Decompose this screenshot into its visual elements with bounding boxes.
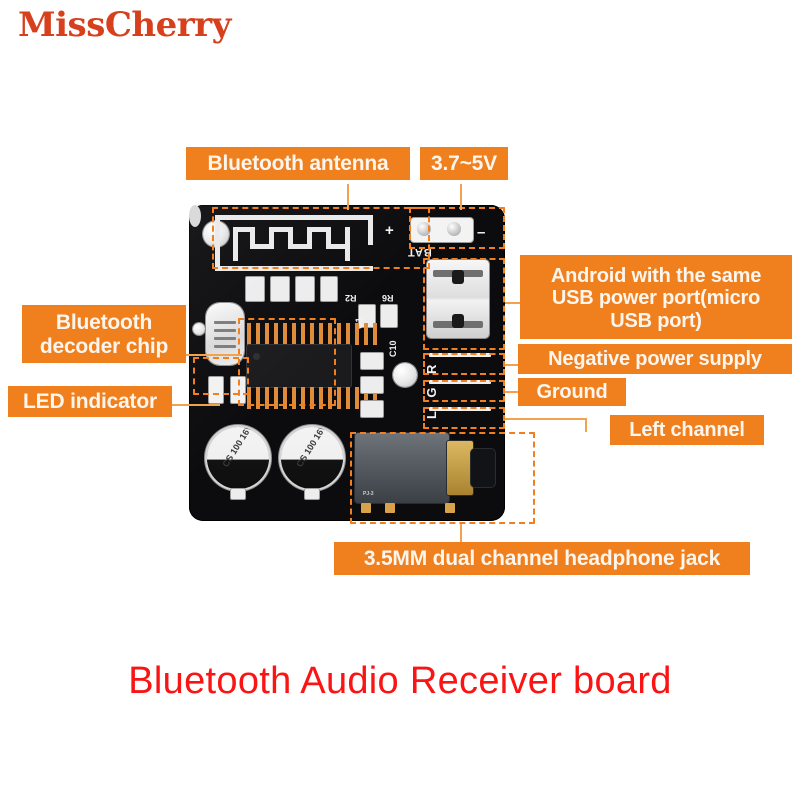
label-bluetooth-decoder-chip[interactable]: Bluetooth decoder chip	[22, 305, 186, 363]
headphone-jack-opening	[189, 205, 201, 227]
leader-headphone-jack	[460, 524, 462, 544]
screenshot-root: MissCherry + –	[0, 0, 800, 800]
watermark-misscherry: MissCherry	[18, 8, 231, 42]
silk-r2: R2	[345, 293, 357, 302]
highlight-ground	[423, 380, 505, 402]
silk-c10: C10	[389, 340, 398, 357]
via-pad-left	[193, 323, 205, 335]
smd-cap-r3	[381, 305, 397, 327]
highlight-antenna	[212, 207, 430, 269]
smd-passive-3	[361, 401, 383, 417]
smd-resistor-2	[271, 277, 289, 301]
highlight-negative-power	[423, 353, 505, 375]
label-voltage-range[interactable]: 3.7~5V	[420, 147, 508, 180]
label-headphone-jack[interactable]: 3.5MM dual channel headphone jack	[334, 542, 750, 575]
label-android-usb-port[interactable]: Android with the same USB power port(mic…	[520, 255, 792, 339]
smd-resistor-1	[246, 277, 264, 301]
leader-ground	[505, 391, 519, 393]
leader-decoder-chip	[186, 354, 242, 356]
leader-left-channel-h	[505, 418, 585, 420]
leader-negative-power	[505, 364, 519, 366]
smd-passive-2	[361, 377, 383, 393]
capacitor-2-pad	[305, 489, 319, 499]
highlight-headphone-jack	[350, 432, 535, 524]
page-title: Bluetooth Audio Receiver board	[0, 660, 800, 703]
label-ground[interactable]: Ground	[518, 378, 626, 406]
label-led-indicator[interactable]: LED indicator	[8, 386, 172, 417]
electrolytic-capacitor-2: CS 100 16V	[281, 427, 343, 489]
leader-voltage	[460, 184, 462, 210]
electrolytic-capacitor-1: CS 100 16V	[207, 427, 269, 489]
silk-r6: R6	[382, 293, 394, 302]
label-negative-power-supply[interactable]: Negative power supply	[518, 344, 792, 374]
smd-resistor-4	[321, 277, 337, 301]
label-left-channel[interactable]: Left channel	[610, 415, 764, 445]
smd-resistor-3	[296, 277, 314, 301]
capacitor-1-pad	[231, 489, 245, 499]
leader-antenna	[347, 184, 349, 210]
highlight-usb	[423, 258, 505, 350]
via-pad-center	[393, 363, 417, 387]
leader-led-indicator	[172, 404, 220, 406]
highlight-left-channel	[423, 407, 505, 429]
capacitor-1-text: CS 100 16V	[221, 427, 255, 469]
leader-left-channel-v	[585, 418, 587, 432]
capacitor-2-text: CS 100 16V	[295, 427, 329, 469]
highlight-decoder-chip	[238, 318, 336, 406]
smd-passive-1	[361, 353, 383, 369]
label-bluetooth-antenna[interactable]: Bluetooth antenna	[186, 147, 410, 180]
highlight-bat	[409, 207, 505, 249]
